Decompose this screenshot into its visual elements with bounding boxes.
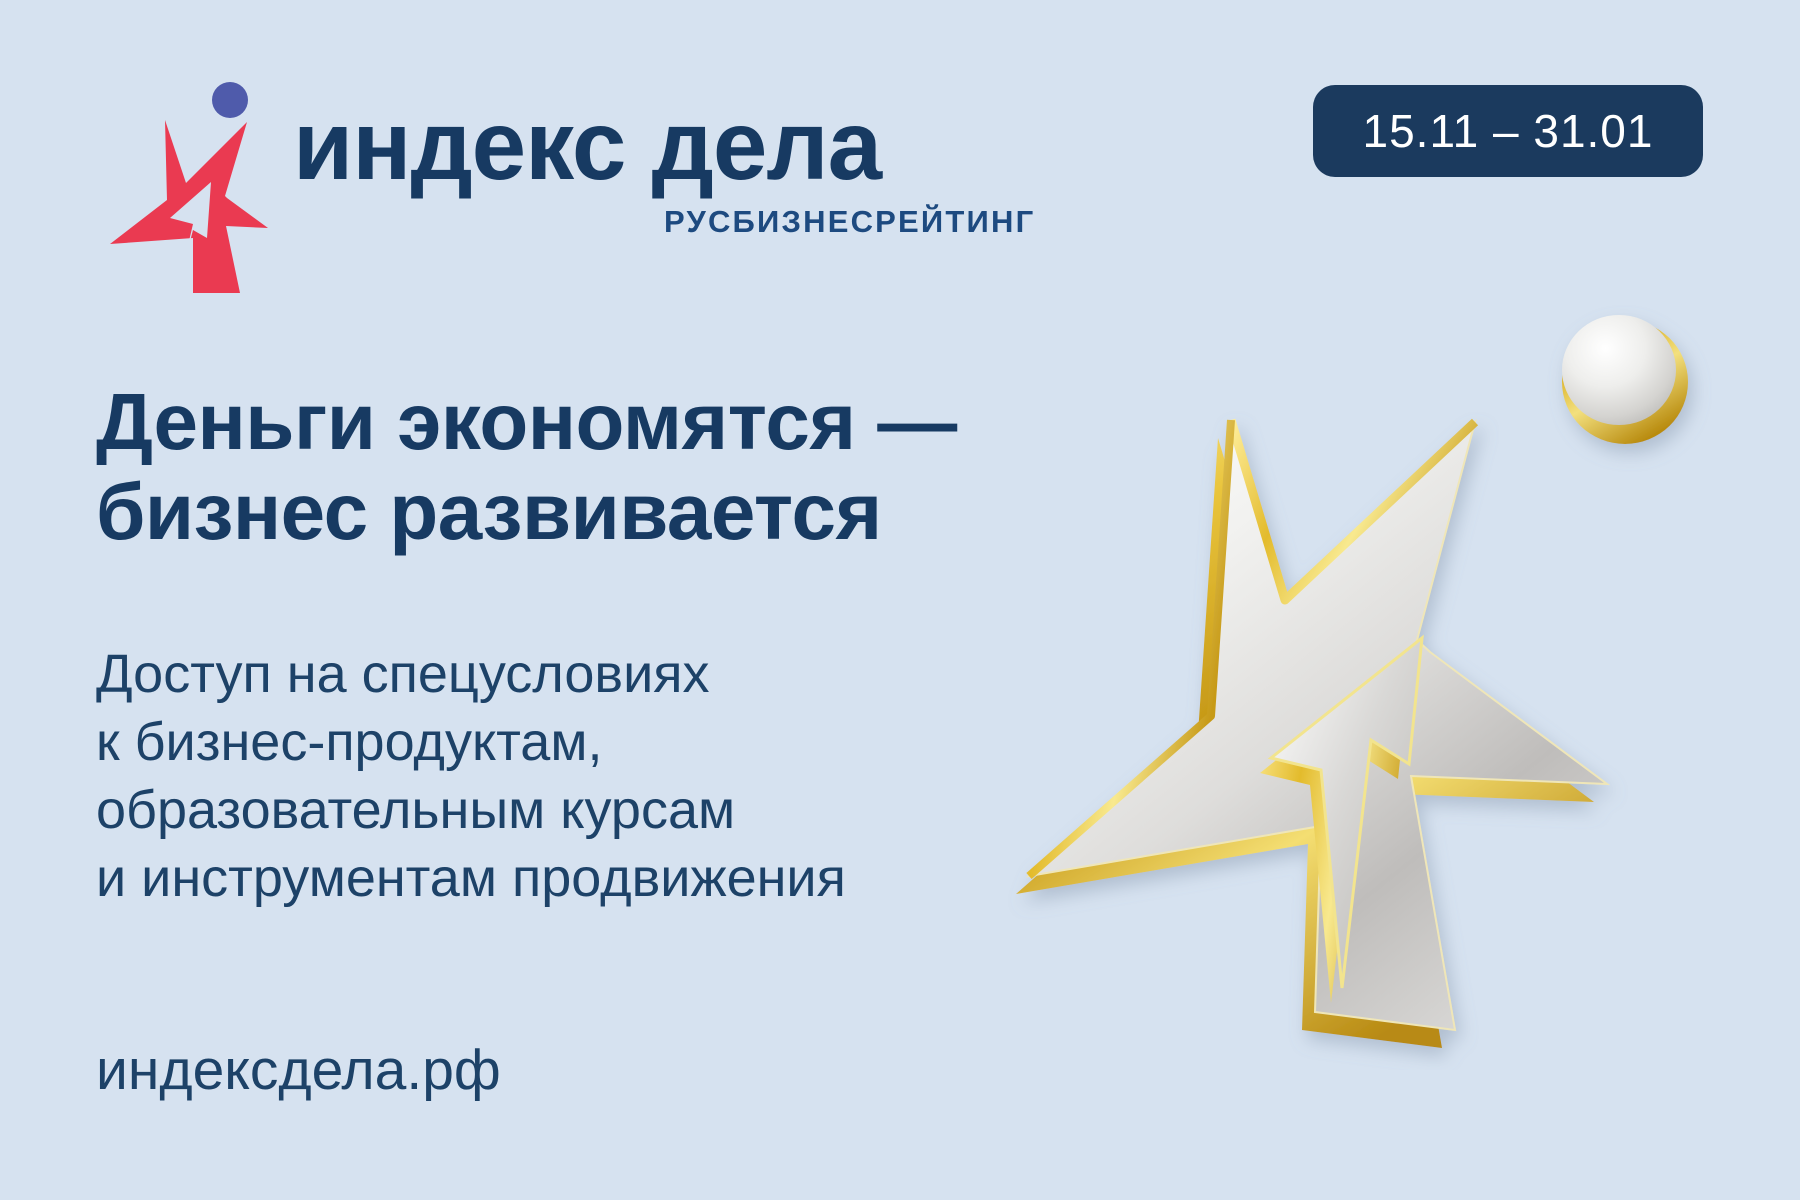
headline: Деньги экономятся — бизнес развивается: [96, 377, 957, 556]
brand-logo[interactable]: индекс дела РУСБИЗНЕСРЕЙТИНГ: [108, 78, 1048, 268]
subcopy: Доступ на спецусловиях к бизнес-продукта…: [96, 640, 846, 912]
logo-dot: [212, 82, 248, 118]
star-3d: [1016, 420, 1607, 1048]
brand-wordmark: индекс дела: [293, 96, 881, 194]
site-url[interactable]: индексдела.рф: [96, 1037, 501, 1103]
hero-3d-star-art: [985, 270, 1785, 1070]
sphere-3d: [1562, 315, 1688, 444]
promo-banner: индекс дела РУСБИЗНЕСРЕЙТИНГ 15.11 – 31.…: [0, 0, 1800, 1200]
star-arrow-logo-icon: [108, 78, 268, 293]
brand-tagline: РУСБИЗНЕСРЕЙТИНГ: [664, 204, 1035, 240]
date-range-badge: 15.11 – 31.01: [1313, 85, 1703, 177]
